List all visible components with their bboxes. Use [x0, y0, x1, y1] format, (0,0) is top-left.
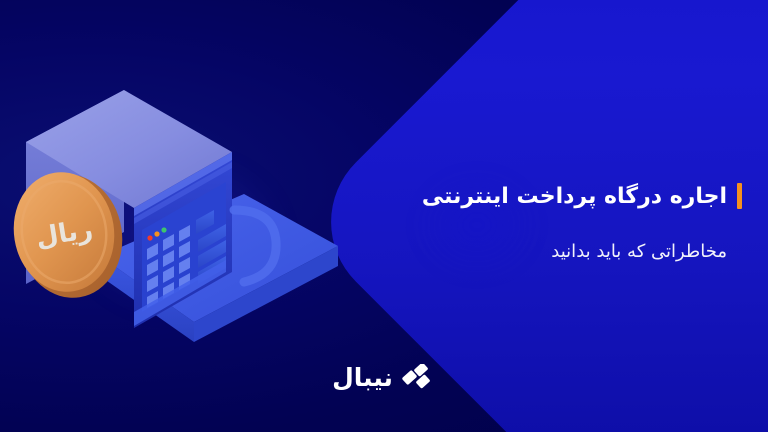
text-block: اجاره درگاه پرداخت اینترنتی مخاطراتی که …	[342, 168, 742, 264]
headline-row: اجاره درگاه پرداخت اینترنتی	[342, 168, 742, 225]
brand-logo[interactable]: نیبال	[0, 364, 768, 390]
pos-terminal-illustration: ریال	[8, 60, 348, 360]
banner-canvas: ریال اجاره درگاه پرداخت اینترنتی مخاطرات…	[0, 0, 768, 432]
page-subtitle: مخاطراتی که باید بدانید	[342, 239, 727, 264]
brand-name: نیبال	[332, 365, 393, 390]
diamond-logo-icon	[402, 364, 436, 390]
accent-bar-icon	[737, 183, 742, 209]
page-title: اجاره درگاه پرداخت اینترنتی	[422, 183, 727, 211]
